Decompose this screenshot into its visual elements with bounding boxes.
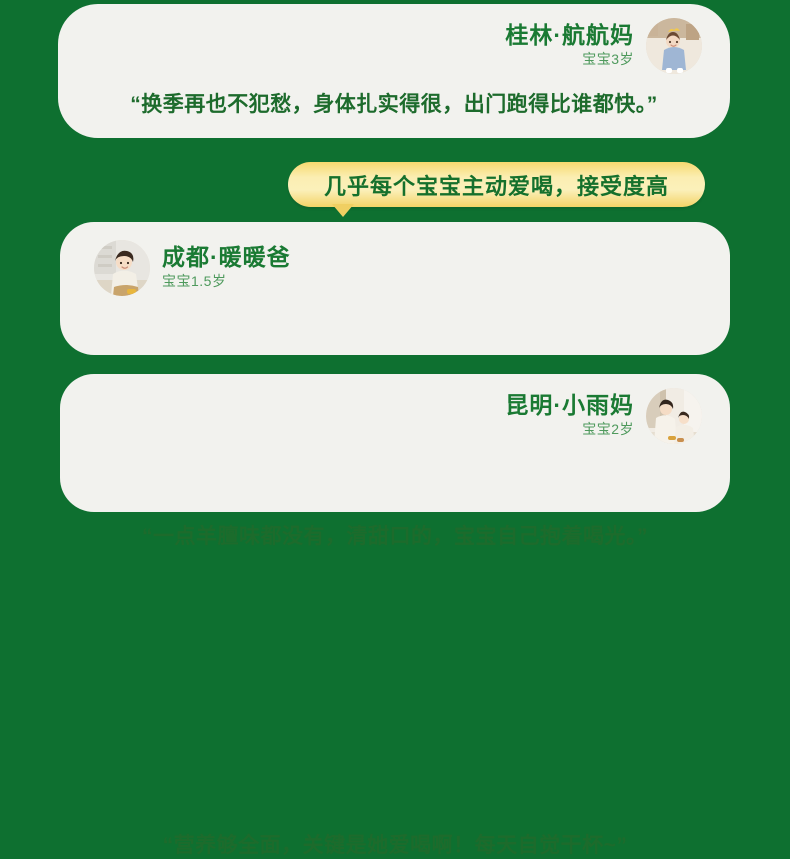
reviewer-text-block-2: 成都·暖暖爸 宝宝1.5岁 (162, 244, 291, 291)
reviewer-avatar-3 (646, 388, 702, 444)
reviewer-baby-age-2: 宝宝1.5岁 (162, 271, 226, 292)
reviewer-name-1: 桂林·航航妈 (505, 22, 634, 48)
reviewer-baby-age-3: 宝宝2岁 (582, 419, 634, 440)
banner-pointer-icon (332, 204, 354, 217)
testimonial-card-3[interactable]: 昆明·小雨妈 宝宝2岁 (60, 374, 730, 512)
reviewer-identity-1: 桂林·航航妈 宝宝3岁 (505, 18, 702, 74)
testimonial-card-2[interactable]: 成都·暖暖爸 宝宝1.5岁 “一点羊膻味都没有，清甜口的，宝宝自己抱着喝光。” (60, 222, 730, 355)
reviewer-text-block-3: 昆明·小雨妈 宝宝2岁 (505, 392, 634, 439)
testimonial-quote-3: “营养够全面，关键是她爱喝啊！每天自觉干杯~” (60, 829, 730, 859)
testimonial-quote-1: “换季再也不犯愁，身体扎实得很，出门跑得比谁都快。” (58, 88, 730, 118)
reviewer-baby-age-1: 宝宝3岁 (582, 49, 634, 70)
testimonial-card-1[interactable]: 桂林·航航妈 宝宝3岁 (58, 4, 730, 138)
highlight-banner-text: 几乎每个宝宝主动爱喝，接受度高 (324, 169, 669, 201)
reviewer-identity-3: 昆明·小雨妈 宝宝2岁 (505, 388, 702, 444)
reviewer-name-2: 成都·暖暖爸 (162, 244, 291, 270)
reviewer-avatar-1 (646, 18, 702, 74)
testimonial-section: 桂林·航航妈 宝宝3岁 (0, 0, 790, 546)
reviewer-identity-2: 成都·暖暖爸 宝宝1.5岁 (94, 240, 291, 296)
reviewer-text-block-1: 桂林·航航妈 宝宝3岁 (505, 22, 634, 69)
reviewer-name-3: 昆明·小雨妈 (505, 392, 634, 418)
highlight-banner: 几乎每个宝宝主动爱喝，接受度高 (288, 162, 705, 207)
reviewer-avatar-2 (94, 240, 150, 296)
